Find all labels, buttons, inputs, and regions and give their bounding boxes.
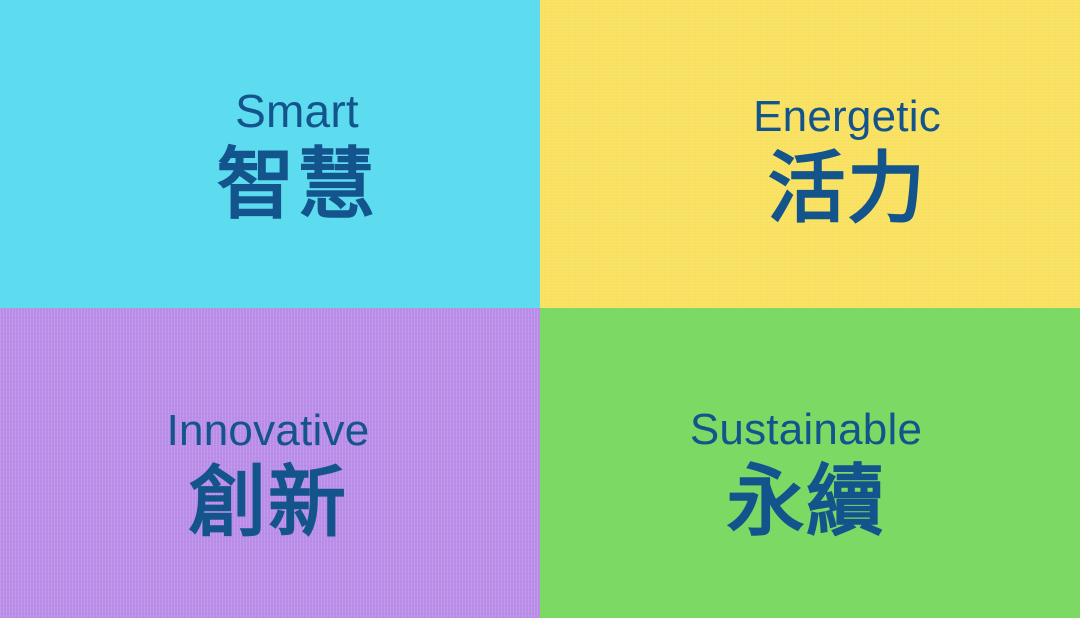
english-label-innovative: Innovative (167, 409, 370, 453)
label-block-sustainable: Sustainable 永續 (540, 408, 1080, 541)
quadrant-sustainable[interactable]: Sustainable 永續 (540, 308, 1080, 618)
english-label-sustainable: Sustainable (690, 408, 922, 452)
english-label-energetic: Energetic (753, 95, 941, 139)
quadrant-grid: Smart 智慧 Energetic 活力 Innovative 創新 (0, 0, 1080, 618)
english-label-smart: Smart (217, 88, 378, 134)
chinese-label-energetic: 活力 (753, 150, 941, 228)
brand-values-canvas: Smart 智慧 Energetic 活力 Innovative 創新 (0, 0, 1080, 618)
label-block-energetic: Energetic 活力 (540, 95, 1080, 228)
quadrant-smart[interactable]: Smart 智慧 (0, 0, 540, 308)
quadrant-energetic[interactable]: Energetic 活力 (540, 0, 1080, 308)
chinese-label-smart: 智慧 (217, 146, 378, 224)
quadrant-innovative[interactable]: Innovative 創新 (0, 308, 540, 618)
chinese-label-sustainable: 永續 (690, 463, 922, 541)
label-block-innovative: Innovative 創新 (0, 409, 540, 542)
chinese-label-innovative: 創新 (167, 464, 370, 542)
label-block-smart: Smart 智慧 (0, 88, 540, 224)
